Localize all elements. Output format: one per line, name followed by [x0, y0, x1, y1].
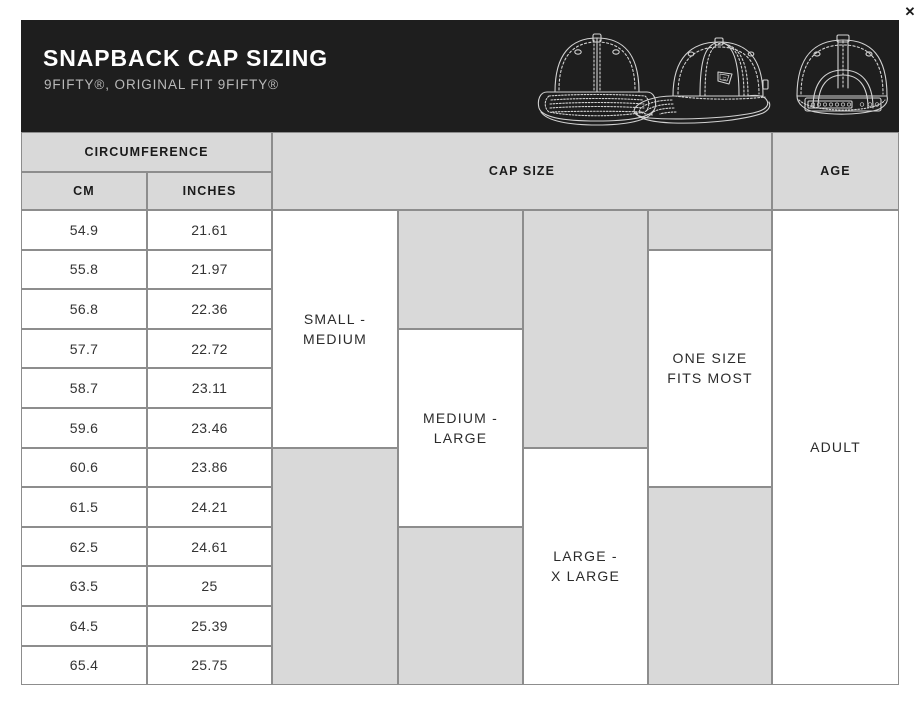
sizing-table: CIRCUMFERENCECMINCHESCAP SIZEAGE54.921.6…	[21, 132, 899, 686]
header-cm: CM	[21, 172, 147, 210]
table-row-cm-label: 63.5	[70, 578, 98, 594]
table-row-inches-label: 23.46	[191, 420, 228, 436]
cap-side-view	[634, 38, 770, 123]
size-chart-sheet: SNAPBACK CAP SIZING 9FIFTY®, ORIGINAL FI…	[21, 20, 899, 686]
header-cap-size: CAP SIZE	[272, 132, 772, 210]
header-cap-size-label: CAP SIZE	[489, 164, 555, 178]
table-row-inches-label: 25	[201, 578, 217, 594]
table-row-cm: 55.8	[21, 250, 147, 290]
table-row-inches-label: 21.97	[191, 261, 228, 277]
cap-size-band-medium-large-label: MEDIUM - LARGE	[423, 408, 498, 449]
age-band-adult: ADULT	[772, 210, 899, 685]
table-row-inches: 25.39	[147, 606, 272, 646]
table-row-cm: 62.5	[21, 527, 147, 567]
table-row-inches-label: 24.21	[191, 499, 228, 515]
table-row-inches: 22.36	[147, 289, 272, 329]
table-row-inches: 24.21	[147, 487, 272, 527]
table-row-inches: 21.61	[147, 210, 272, 250]
table-row-inches: 23.11	[147, 368, 272, 408]
cap-size-band-large-x-large-above	[523, 210, 648, 448]
cap-size-band-small-medium: SMALL - MEDIUM	[272, 210, 398, 448]
header-age-label: AGE	[820, 164, 850, 178]
table-row-cm: 57.7	[21, 329, 147, 369]
header-circumference: CIRCUMFERENCE	[21, 132, 272, 172]
table-row-cm-label: 59.6	[70, 420, 98, 436]
page-title: SNAPBACK CAP SIZING	[43, 45, 328, 72]
cap-size-band-medium-large: MEDIUM - LARGE	[398, 329, 523, 527]
table-row-cm-label: 58.7	[70, 380, 98, 396]
cap-size-band-medium-large-below	[398, 527, 523, 685]
chart-header: SNAPBACK CAP SIZING 9FIFTY®, ORIGINAL FI…	[21, 20, 899, 132]
table-row-cm-label: 60.6	[70, 459, 98, 475]
table-row-inches-label: 22.72	[191, 341, 228, 357]
header-inches-label: INCHES	[183, 184, 237, 198]
table-row-cm-label: 57.7	[70, 341, 98, 357]
cap-size-band-one-size-fits-most-label: ONE SIZE FITS MOST	[667, 348, 752, 389]
table-row-inches-label: 22.36	[191, 301, 228, 317]
header-circumference-label: CIRCUMFERENCE	[84, 145, 208, 159]
size-chart-page: ✕ SNAPBACK CAP SIZING 9FIFTY®, ORIGINAL …	[0, 0, 920, 701]
table-row-inches-label: 25.75	[191, 657, 228, 673]
table-row-inches-label: 24.61	[191, 539, 228, 555]
table-row-cm: 58.7	[21, 368, 147, 408]
table-row-inches: 24.61	[147, 527, 272, 567]
age-band-adult-label: ADULT	[810, 437, 861, 457]
header-age: AGE	[772, 132, 899, 210]
table-row-cm: 54.9	[21, 210, 147, 250]
cap-size-band-large-x-large: LARGE - X LARGE	[523, 448, 648, 686]
table-row-inches: 23.86	[147, 448, 272, 488]
cap-illustrations	[533, 24, 893, 130]
table-row-cm-label: 64.5	[70, 618, 98, 634]
table-row-inches: 23.46	[147, 408, 272, 448]
table-row-inches-label: 21.61	[191, 222, 228, 238]
table-row-cm-label: 65.4	[70, 657, 98, 673]
table-row-cm: 60.6	[21, 448, 147, 488]
cap-size-band-small-medium-below	[272, 448, 398, 686]
table-row-cm-label: 62.5	[70, 539, 98, 555]
header-cm-label: CM	[73, 184, 95, 198]
table-row-cm-label: 54.9	[70, 222, 98, 238]
cap-size-band-medium-large-above	[398, 210, 523, 329]
cap-size-band-one-size-fits-most-below	[648, 487, 772, 685]
table-row-inches: 25	[147, 566, 272, 606]
cap-size-band-large-x-large-label: LARGE - X LARGE	[551, 546, 620, 587]
table-row-cm: 59.6	[21, 408, 147, 448]
cap-back-view	[797, 35, 887, 114]
table-row-cm-label: 56.8	[70, 301, 98, 317]
table-row-inches: 25.75	[147, 646, 272, 686]
table-row-inches: 21.97	[147, 250, 272, 290]
table-row-cm-label: 55.8	[70, 261, 98, 277]
cap-size-band-one-size-fits-most: ONE SIZE FITS MOST	[648, 250, 772, 488]
table-row-inches-label: 23.86	[191, 459, 228, 475]
cap-size-band-small-medium-label: SMALL - MEDIUM	[303, 309, 367, 350]
table-row-cm: 56.8	[21, 289, 147, 329]
table-row-inches-label: 25.39	[191, 618, 228, 634]
table-row-cm: 65.4	[21, 646, 147, 686]
cap-size-band-one-size-fits-most-above	[648, 210, 772, 250]
header-inches: INCHES	[147, 172, 272, 210]
table-row-cm: 61.5	[21, 487, 147, 527]
table-row-inches-label: 23.11	[192, 380, 228, 396]
table-row-cm: 64.5	[21, 606, 147, 646]
table-row-cm-label: 61.5	[70, 499, 98, 515]
table-row-cm: 63.5	[21, 566, 147, 606]
close-icon[interactable]: ✕	[902, 4, 918, 20]
page-subtitle: 9FIFTY®, ORIGINAL FIT 9FIFTY®	[44, 77, 279, 92]
table-row-inches: 22.72	[147, 329, 272, 369]
cap-front-view	[538, 34, 655, 125]
